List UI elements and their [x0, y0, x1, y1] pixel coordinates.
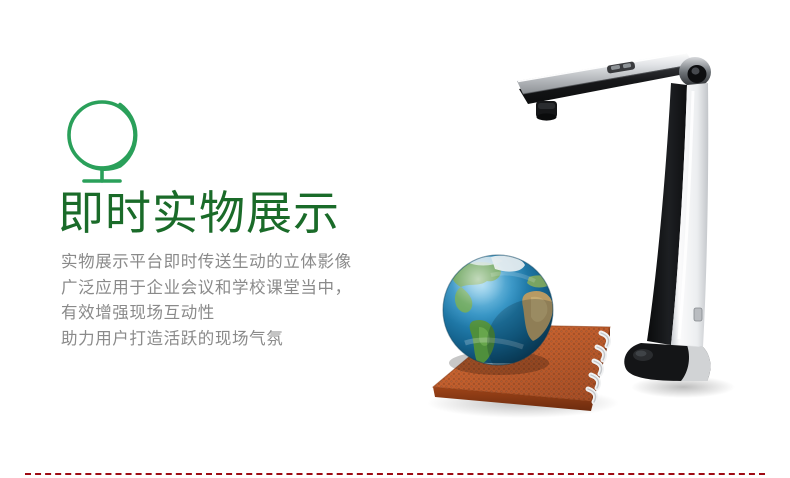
- description-line: 有效增强现场互动性: [61, 301, 411, 327]
- post-port: [694, 308, 702, 321]
- description-line: 实物展示平台即时传送生动的立体影像: [61, 250, 411, 276]
- camera-lens: [536, 101, 557, 121]
- camera-hinge: [679, 57, 711, 87]
- page-title: 即时实物展示: [58, 186, 340, 240]
- feature-description: 实物展示平台即时传送生动的立体影像 广泛应用于企业会议和学校课堂当中， 有效增强…: [61, 250, 411, 352]
- bottom-dashed-rule: [25, 473, 765, 475]
- description-line: 助力用户打造活跃的现场气氛: [61, 327, 411, 353]
- camera-base: [624, 343, 710, 381]
- globe-icon: [58, 97, 162, 189]
- document-camera-product-photo: [395, 25, 790, 420]
- slide-root: 即时实物展示 实物展示平台即时传送生动的立体影像 广泛应用于企业会议和学校课堂当…: [0, 0, 790, 478]
- camera-post: [647, 83, 708, 347]
- camera-arm: [517, 52, 695, 104]
- feature-text-block: 即时实物展示 实物展示平台即时传送生动的立体影像 广泛应用于企业会议和学校课堂当…: [0, 0, 440, 420]
- description-line: 广泛应用于企业会议和学校课堂当中，: [61, 276, 411, 302]
